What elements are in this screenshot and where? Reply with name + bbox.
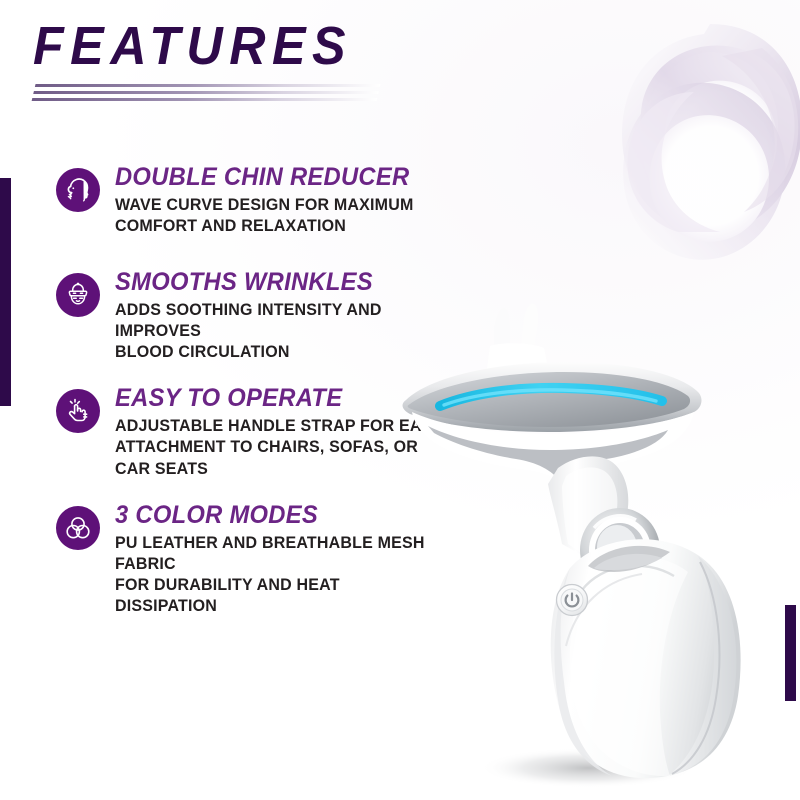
feature-item-smooths-wrinkles: SMOOTHS WRINKLES ADDS SOOTHING INTENSITY… (56, 268, 456, 363)
infographic-canvas: FEATURES (0, 0, 800, 800)
hand-tap-icon (56, 389, 100, 433)
feature-description: WAVE CURVE DESIGN FOR MAXIMUM COMFORT AN… (115, 195, 416, 237)
feature-item-3-color-modes: 3 COLOR MODES PU LEATHER AND BREATHABLE … (56, 501, 456, 617)
title-underline-rules (30, 84, 380, 106)
feature-item-double-chin-reducer: DOUBLE CHIN REDUCER WAVE CURVE DESIGN FO… (56, 163, 456, 247)
feature-title: EASY TO OPERATE (115, 385, 439, 412)
right-accent-bar (785, 605, 796, 701)
three-overlapping-circles-icon (56, 506, 100, 550)
feature-item-easy-to-operate: EASY TO OPERATE ADJUSTABLE HANDLE STRAP … (56, 384, 456, 479)
feature-description: ADDS SOOTHING INTENSITY AND IMPROVES BLO… (115, 300, 446, 363)
wrinkled-face-icon (56, 273, 100, 317)
feature-text-block: SMOOTHS WRINKLES ADDS SOOTHING INTENSITY… (100, 268, 456, 363)
feature-title: DOUBLE CHIN REDUCER (115, 164, 409, 191)
feature-text-block: 3 COLOR MODES PU LEATHER AND BREATHABLE … (100, 501, 456, 617)
feature-description: PU LEATHER AND BREATHABLE MESH FABRIC FO… (115, 533, 446, 617)
feature-description: ADJUSTABLE HANDLE STRAP FOR EASY ATTACHM… (115, 416, 446, 479)
abstract-torus-knot-decoration (612, 18, 800, 308)
device-power-button[interactable] (557, 585, 588, 616)
page-title: FEATURES (33, 18, 424, 75)
feature-title: SMOOTHS WRINKLES (115, 269, 439, 296)
title-rule-1 (35, 84, 381, 87)
page-title-block: FEATURES (33, 18, 453, 106)
title-rule-3 (32, 98, 378, 101)
left-accent-bar (0, 178, 11, 406)
feature-list: DOUBLE CHIN REDUCER WAVE CURVE DESIGN FO… (56, 163, 456, 638)
feature-text-block: DOUBLE CHIN REDUCER WAVE CURVE DESIGN FO… (100, 163, 425, 237)
feature-text-block: EASY TO OPERATE ADJUSTABLE HANDLE STRAP … (100, 384, 456, 479)
title-rule-2 (33, 91, 379, 94)
feature-title: 3 COLOR MODES (115, 502, 439, 529)
face-profile-chin-icon (56, 168, 100, 212)
